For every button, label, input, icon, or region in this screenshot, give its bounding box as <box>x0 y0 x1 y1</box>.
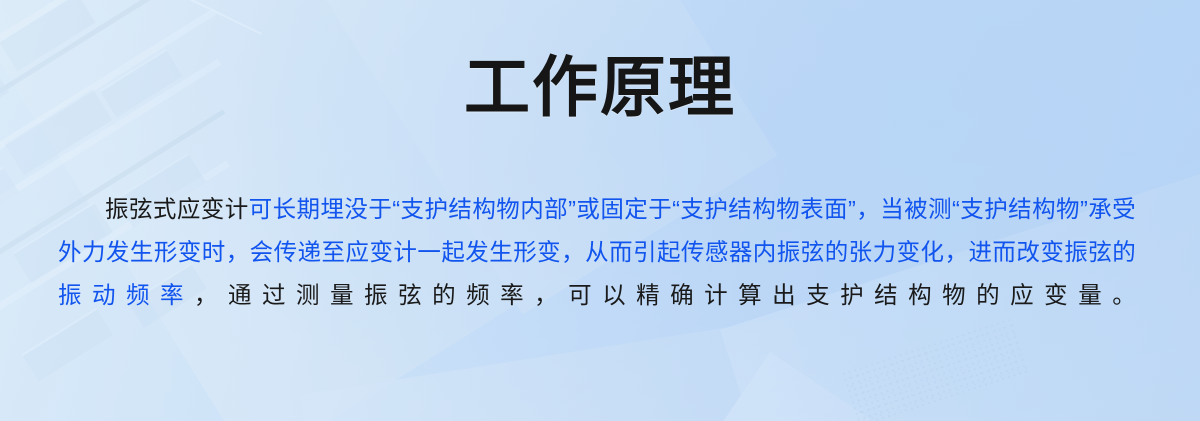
work-principle-banner: 工作原理 振弦式应变计可长期埋没于“支护结构物内部”或固定于“支护结构物表面”，… <box>0 0 1200 421</box>
paragraph-segment-0: 振弦式应变计 <box>105 196 249 222</box>
page-title: 工作原理 <box>0 54 1200 120</box>
paragraph-segment-2: ，通过测量振弦的频率，可以精确计算出支护结构物的应变量。 <box>194 282 1136 308</box>
principle-paragraph: 振弦式应变计可长期埋没于“支护结构物内部”或固定于“支护结构物表面”，当被测“支… <box>58 188 1136 317</box>
banner-content: 工作原理 振弦式应变计可长期埋没于“支护结构物内部”或固定于“支护结构物表面”，… <box>0 0 1200 421</box>
